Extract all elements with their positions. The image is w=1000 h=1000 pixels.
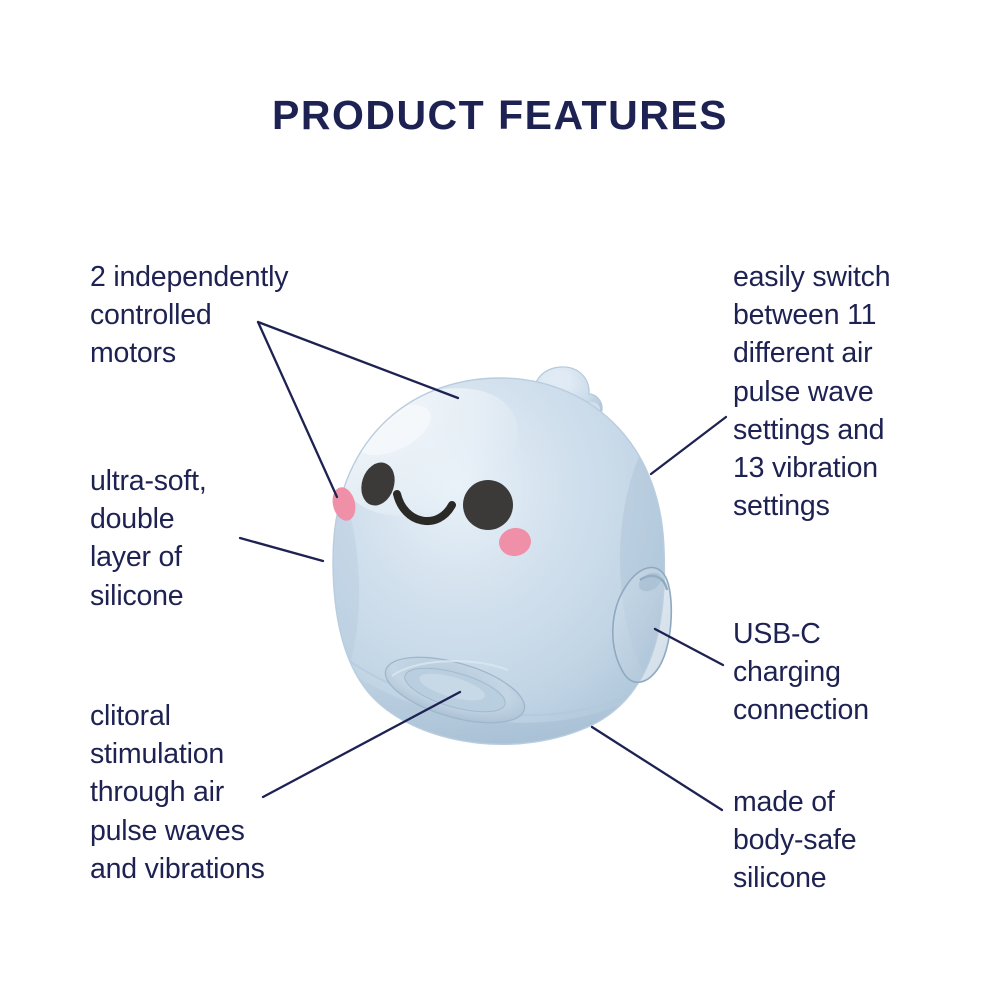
product-features-infographic: PRODUCT FEATURES — [0, 0, 1000, 1000]
leader-lines — [0, 0, 1000, 1000]
leader-line-usbc — [655, 629, 723, 665]
leader-line-settings — [651, 417, 726, 474]
leader-line-ultra-soft — [240, 538, 323, 561]
leader-line-body-safe — [592, 727, 722, 810]
leader-line-clitoral — [263, 692, 460, 797]
